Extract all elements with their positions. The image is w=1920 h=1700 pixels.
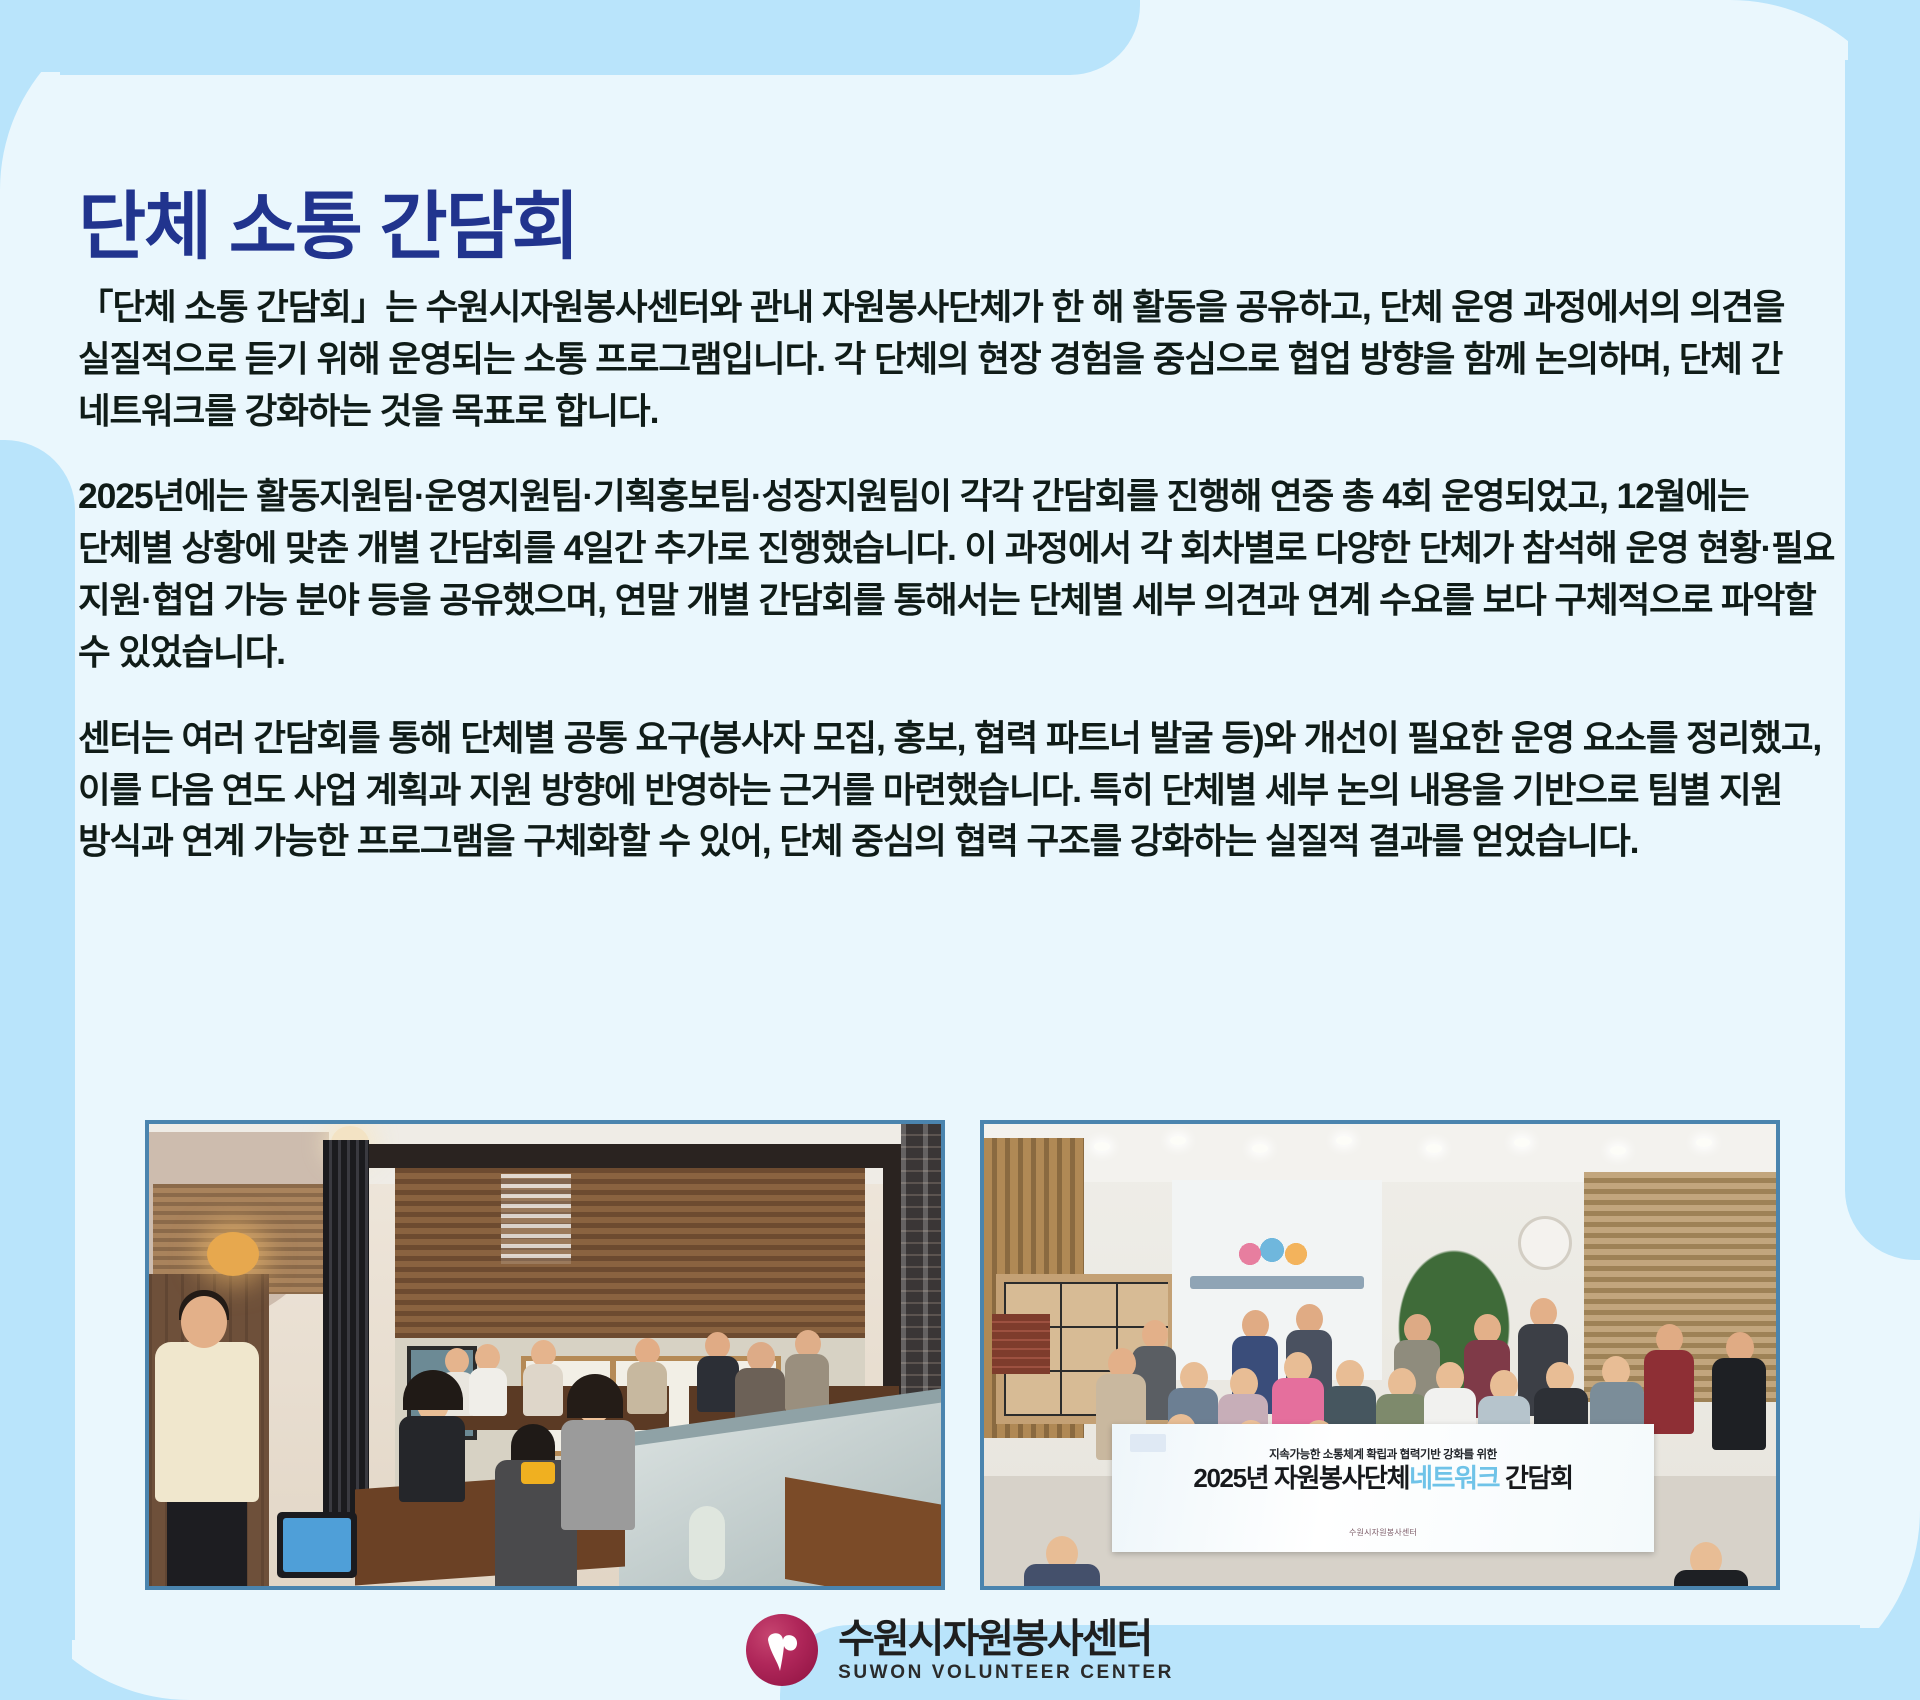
- participant-head: [445, 1348, 469, 1374]
- body-copy: 「단체 소통 간담회」는 수원시자원봉사센터와 관내 자원봉사단체가 한 해 활…: [78, 282, 1848, 868]
- wall-banner-slogan-line: [1190, 1276, 1364, 1289]
- hall-wall-clock: [1518, 1216, 1572, 1270]
- ceiling-light: [1696, 1138, 1712, 1147]
- speaker-legs: [167, 1494, 247, 1590]
- poster-content: 단체 소통 간담회 「단체 소통 간담회」는 수원시자원봉사센터와 관내 자원봉…: [0, 0, 1920, 1700]
- ceiling-light: [1336, 1136, 1352, 1145]
- group-member-body: [1644, 1350, 1694, 1434]
- ceiling-light: [1514, 1138, 1530, 1147]
- photo-left-scene: [149, 1124, 941, 1586]
- paragraph-3: 센터는 여러 간담회를 통해 단체별 공통 요구(봉사자 모집, 홍보, 협력 …: [78, 713, 1848, 868]
- hanok-door-frame-top: [367, 1144, 907, 1168]
- hanok-ceramic-vase: [689, 1506, 725, 1580]
- participant-body: [399, 1416, 465, 1502]
- paragraph-2: 2025년에는 활동지원팀·운영지원팀·기획홍보팀·성장지원팀이 각각 간담회를…: [78, 471, 1848, 678]
- footer-logo-en: SUWON VOLUNTEER CENTER: [838, 1663, 1174, 1683]
- photo-right-scene: 지속가능한 소통체계 확립과 협력기반 강화를 위한 2025년 자원봉사단체네…: [984, 1124, 1776, 1586]
- group-member-head: [1142, 1320, 1168, 1349]
- participant-body: [561, 1420, 635, 1530]
- footer-logo: 수원시자원봉사센터 SUWON VOLUNTEER CENTER: [0, 1600, 1920, 1700]
- poster-card: 단체 소통 간담회 「단체 소통 간담회」는 수원시자원봉사센터와 관내 자원봉…: [0, 0, 1920, 1700]
- photo-group-banner: 지속가능한 소통체계 확립과 협력기반 강화를 위한 2025년 자원봉사단체네…: [980, 1120, 1780, 1590]
- wall-banner-people-illustration: [1238, 1230, 1318, 1266]
- banner-title-highlight: 네트워크: [1409, 1463, 1499, 1493]
- ceiling-light: [1094, 1142, 1110, 1151]
- participant-head: [635, 1338, 660, 1365]
- banner-logo-text: 수원시자원봉사센터: [1112, 1527, 1654, 1538]
- hanok-blind-backlight: [501, 1174, 571, 1264]
- ceiling-light: [1426, 1144, 1442, 1153]
- ceiling-light: [1252, 1144, 1268, 1153]
- group-member-body: [1674, 1570, 1748, 1590]
- participant-head: [531, 1340, 556, 1367]
- group-member-body: [1712, 1358, 1766, 1450]
- ceiling-light: [1610, 1146, 1626, 1155]
- hall-brick-accent: [992, 1314, 1050, 1374]
- participant-scarf: [521, 1462, 555, 1484]
- speaker-jacket: [155, 1342, 259, 1502]
- participant-body: [469, 1368, 507, 1416]
- banner-title-pre: 2025년 자원봉사단체: [1193, 1463, 1409, 1493]
- hanok-bamboo-blind: [395, 1168, 865, 1338]
- participant-body: [627, 1362, 667, 1414]
- banner-title: 2025년 자원봉사단체네트워크 간담회: [1112, 1464, 1654, 1493]
- footer-logo-text: 수원시자원봉사센터 SUWON VOLUNTEER CENTER: [838, 1618, 1174, 1683]
- participant-body: [523, 1364, 563, 1416]
- hanok-tablet-screen: [283, 1518, 351, 1572]
- photo-meeting-hanok: [145, 1120, 945, 1590]
- participant-body: [785, 1354, 829, 1412]
- photo-row: 지속가능한 소통체계 확립과 협력기반 강화를 위한 2025년 자원봉사단체네…: [0, 1120, 1920, 1590]
- ceiling-light: [1170, 1136, 1186, 1145]
- banner-title-post: 간담회: [1505, 1463, 1573, 1493]
- heart-logo-icon: [746, 1614, 818, 1686]
- page-title: 단체 소통 간담회: [78, 190, 578, 264]
- banner-subtitle: 지속가능한 소통체계 확립과 협력기반 강화를 위한: [1112, 1446, 1654, 1462]
- group-member-body: [1024, 1564, 1100, 1590]
- footer-logo-ko: 수원시자원봉사센터: [838, 1618, 1174, 1660]
- hanok-warm-lamp: [207, 1232, 259, 1276]
- paragraph-1: 「단체 소통 간담회」는 수원시자원봉사센터와 관내 자원봉사단체가 한 해 활…: [78, 282, 1848, 437]
- speaker-head: [181, 1296, 227, 1348]
- participant-head: [475, 1344, 500, 1371]
- participant-body: [697, 1356, 739, 1412]
- participant-head: [705, 1332, 730, 1359]
- event-banner: 지속가능한 소통체계 확립과 협력기반 강화를 위한 2025년 자원봉사단체네…: [1112, 1424, 1654, 1552]
